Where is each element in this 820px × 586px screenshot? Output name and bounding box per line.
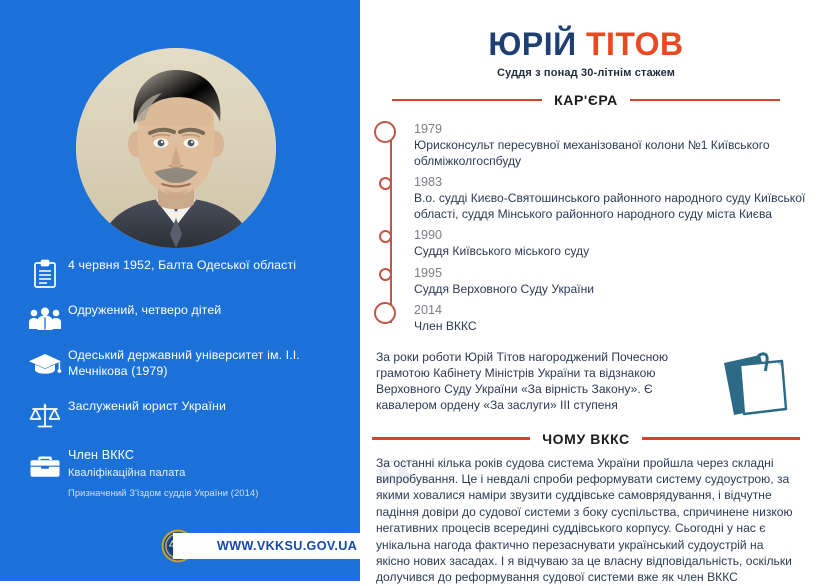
position-note: Призначений З'їздом суддів України (2014… xyxy=(68,486,258,500)
fact-birth-text: 4 червня 1952, Балта Одеської області xyxy=(68,255,296,274)
website-banner[interactable]: WWW.VKKSU.GOV.UA xyxy=(173,533,360,559)
website-url[interactable]: WWW.VKKSU.GOV.UA xyxy=(173,539,357,553)
position-title: Член ВККС xyxy=(68,448,134,462)
timeline-marker-small xyxy=(379,230,392,243)
timeline-year: 2014 xyxy=(414,303,806,318)
divider-right xyxy=(642,437,800,440)
timeline-marker-small xyxy=(379,268,392,281)
timeline-marker-large xyxy=(374,302,396,324)
clipboard-icon xyxy=(22,255,68,293)
briefcase-icon xyxy=(22,447,68,485)
timeline-axis xyxy=(390,132,392,323)
timeline-description: Юрисконсульт пересувної механізованої ко… xyxy=(414,138,806,169)
portrait-photo xyxy=(76,48,276,248)
fact-honor: Заслужений юрист України xyxy=(22,396,352,434)
awards-text: За роки роботи Юрій Тітов нагороджений П… xyxy=(376,349,714,413)
family-icon xyxy=(22,300,68,338)
page-title: ЮРІЙ ТІТОВ xyxy=(366,26,806,62)
divider-right xyxy=(630,99,780,102)
fact-family: Одружений, четверо дітей xyxy=(22,300,352,338)
timeline-description: В.о. судді Києво-Святошинського районног… xyxy=(414,191,806,222)
fact-education-text: Одеський державний університет ім. І.І. … xyxy=(68,345,352,379)
first-name: ЮРІЙ xyxy=(488,26,576,62)
fact-education: Одеський державний університет ім. І.І. … xyxy=(22,345,352,383)
section-title-career: КАР'ЄРА xyxy=(554,92,618,108)
timeline-year: 1979 xyxy=(414,122,806,137)
timeline-item: 2014 Член ВККС xyxy=(414,303,806,335)
content-panel: ЮРІЙ ТІТОВ Суддя з понад 30-літнім стаже… xyxy=(360,0,820,581)
fact-position: Член ВККС Кваліфікаційна палата Призначе… xyxy=(22,447,352,500)
fact-birth: 4 червня 1952, Балта Одеської області xyxy=(22,255,352,293)
profile-sidebar: 4 червня 1952, Балта Одеської області Од… xyxy=(0,0,360,581)
quote-text: За останні кілька років судова система У… xyxy=(376,455,800,586)
infographic-page: 4 червня 1952, Балта Одеської області Од… xyxy=(0,0,820,581)
timeline-description: Суддя Київського міського суду xyxy=(414,244,806,260)
timeline-description: Суддя Верховного Суду України xyxy=(414,282,806,298)
timeline-marker-small xyxy=(379,177,392,190)
timeline-item: 1983 В.о. судді Києво-Святошинського рай… xyxy=(414,175,806,222)
timeline-marker-large xyxy=(374,121,396,143)
scales-icon xyxy=(22,396,68,434)
timeline-item: 1990 Суддя Київського міського суду xyxy=(414,228,806,260)
fact-honor-text: Заслужений юрист України xyxy=(68,396,226,415)
timeline-item: 1995 Суддя Верховного Суду України xyxy=(414,266,806,298)
graduation-cap-icon xyxy=(22,345,68,383)
section-title-why: ЧОМУ ВККС xyxy=(542,431,630,447)
facts-list: 4 червня 1952, Балта Одеської області Од… xyxy=(22,255,352,507)
timeline-description: Член ВККС xyxy=(414,319,806,335)
clipboard-document-icon xyxy=(714,349,800,417)
position-chamber: Кваліфікаційна палата xyxy=(68,466,258,481)
last-name: ТІТОВ xyxy=(586,26,684,62)
page-subtitle: Суддя з понад 30-літнім стажем xyxy=(366,67,806,79)
divider-left xyxy=(392,99,542,102)
timeline-item: 1979 Юрисконсульт пересувної механізован… xyxy=(414,122,806,169)
timeline-year: 1983 xyxy=(414,175,806,190)
quote-block: “ За останні кілька років судова система… xyxy=(376,455,800,586)
timeline-year: 1990 xyxy=(414,228,806,243)
fact-family-text: Одружений, четверо дітей xyxy=(68,300,221,319)
career-timeline: 1979 Юрисконсульт пересувної механізован… xyxy=(376,122,806,335)
section-header-career: КАР'ЄРА xyxy=(372,92,800,108)
awards-block: За роки роботи Юрій Тітов нагороджений П… xyxy=(376,349,800,417)
section-header-why: ЧОМУ ВККС xyxy=(372,431,800,447)
timeline-year: 1995 xyxy=(414,266,806,281)
